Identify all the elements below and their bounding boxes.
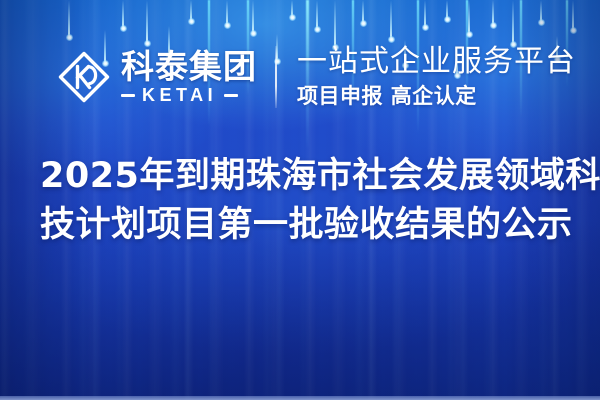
banner-title: 2025年到期珠海市社会发展领域科 技计划项目第一批验收结果的公示 [0,152,600,250]
slogan-primary: 一站式企业服务平台 [297,45,576,78]
dash-right-icon [224,94,238,97]
dash-left-icon [121,94,135,97]
brand-name-en: KETAI [142,86,217,104]
promo-banner: 科泰集团 KETAI 一站式企业服务平台 项目申报 高企认定 2025年到期珠海… [0,0,600,400]
slogan-secondary: 项目申报 高企认定 [297,83,576,108]
page-title-line-2: 技计划项目第一批验收结果的公示 [40,201,560,250]
brand-logo: 科泰集团 KETAI [56,49,257,105]
bottom-edge-strip [0,396,600,400]
ketai-diamond-monogram-icon [56,49,112,105]
page-title-line-1: 2025年到期珠海市社会发展领域科 [40,152,560,201]
header-divider [275,46,277,108]
brand-name-en-row: KETAI [121,86,257,104]
banner-header: 科泰集团 KETAI 一站式企业服务平台 项目申报 高企认定 [0,34,600,120]
slogan-block: 一站式企业服务平台 项目申报 高企认定 [297,45,576,108]
brand-name-cn: 科泰集团 [121,50,257,85]
brand-wordmark: 科泰集团 KETAI [121,50,257,105]
